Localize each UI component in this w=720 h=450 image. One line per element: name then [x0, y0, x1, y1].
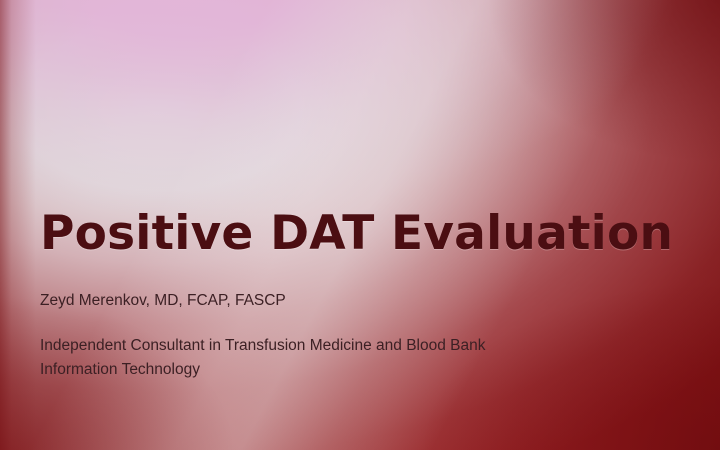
slide-subtitle-block: Zeyd Merenkov, MD, FCAP, FASCP Independe…	[40, 291, 510, 382]
author-affiliation: Independent Consultant in Transfusion Me…	[40, 334, 492, 382]
slide-title: Positive DAT Evaluation	[40, 209, 673, 259]
slide-content: Positive DAT Evaluation Zeyd Merenkov, M…	[0, 0, 720, 450]
author-byline: Zeyd Merenkov, MD, FCAP, FASCP	[40, 291, 510, 312]
presentation-slide: Positive DAT Evaluation Zeyd Merenkov, M…	[0, 0, 720, 450]
